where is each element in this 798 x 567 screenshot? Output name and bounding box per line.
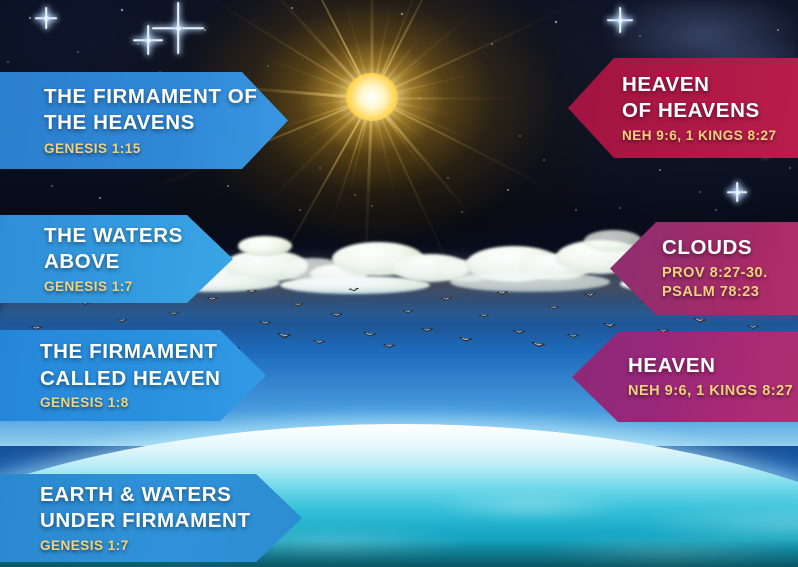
label-reference: GENESIS 1:7 [44,278,233,296]
label-title: THE FIRMAMENT CALLED HEAVEN [40,339,266,392]
label-title: THE WATERS ABOVE [44,223,233,276]
label-firmament-called-heaven[interactable]: THE FIRMAMENT CALLED HEAVEN GENESIS 1:8 [0,330,266,421]
label-reference-line: NEH 9:6, 1 KINGS 8:27 [622,127,798,145]
label-title: HEAVEN [628,353,798,380]
label-reference-line: GENESIS 1:7 [44,278,233,296]
label-title-line: ABOVE [44,249,233,276]
label-title-line: HEAVEN [622,72,798,99]
label-reference-line: PROV 8:27-30. [662,264,798,283]
label-title-line: THE WATERS [44,223,233,250]
label-reference-line: NEH 9:6, 1 KINGS 8:27 [628,382,798,401]
label-title-line: HEAVEN [628,353,798,380]
firmament-diagram: THE FIRMAMENT OF THE HEAVENS GENESIS 1:1… [0,0,798,567]
label-title-line: OF HEAVENS [622,98,798,125]
label-reference: PROV 8:27-30. PSALM 78:23 [662,264,798,302]
label-earth-and-waters-under-firmament[interactable]: EARTH & WATERS UNDER FIRMAMENT GENESIS 1… [0,474,302,562]
label-title: THE FIRMAMENT OF THE HEAVENS [44,84,288,137]
label-title-line: EARTH & WATERS [40,482,302,509]
label-the-waters-above[interactable]: THE WATERS ABOVE GENESIS 1:7 [0,215,233,303]
label-heaven-of-heavens[interactable]: HEAVEN OF HEAVENS NEH 9:6, 1 KINGS 8:27 [568,58,798,158]
label-firmament-of-the-heavens[interactable]: THE FIRMAMENT OF THE HEAVENS GENESIS 1:1… [0,72,288,169]
label-title-line: UNDER FIRMAMENT [40,508,302,535]
label-title-line: CALLED HEAVEN [40,366,266,393]
label-clouds[interactable]: CLOUDS PROV 8:27-30. PSALM 78:23 [610,222,798,315]
label-reference: GENESIS 1:8 [40,394,266,412]
label-title: CLOUDS [662,235,798,262]
label-title: HEAVEN OF HEAVENS [622,72,798,125]
label-title-line: CLOUDS [662,235,798,262]
label-reference: GENESIS 1:15 [44,140,288,158]
label-reference-line: GENESIS 1:7 [40,537,302,555]
label-title: EARTH & WATERS UNDER FIRMAMENT [40,482,302,535]
label-reference-line: GENESIS 1:8 [40,394,266,412]
label-title-line: THE FIRMAMENT OF [44,84,288,111]
label-reference-line: GENESIS 1:15 [44,140,288,158]
label-reference-line: PSALM 78:23 [662,283,798,302]
label-title-line: THE HEAVENS [44,110,288,137]
label-reference: NEH 9:6, 1 KINGS 8:27 [622,127,798,145]
label-reference: GENESIS 1:7 [40,537,302,555]
label-heaven[interactable]: HEAVEN NEH 9:6, 1 KINGS 8:27 [572,332,798,422]
label-title-line: THE FIRMAMENT [40,339,266,366]
label-reference: NEH 9:6, 1 KINGS 8:27 [628,382,798,401]
